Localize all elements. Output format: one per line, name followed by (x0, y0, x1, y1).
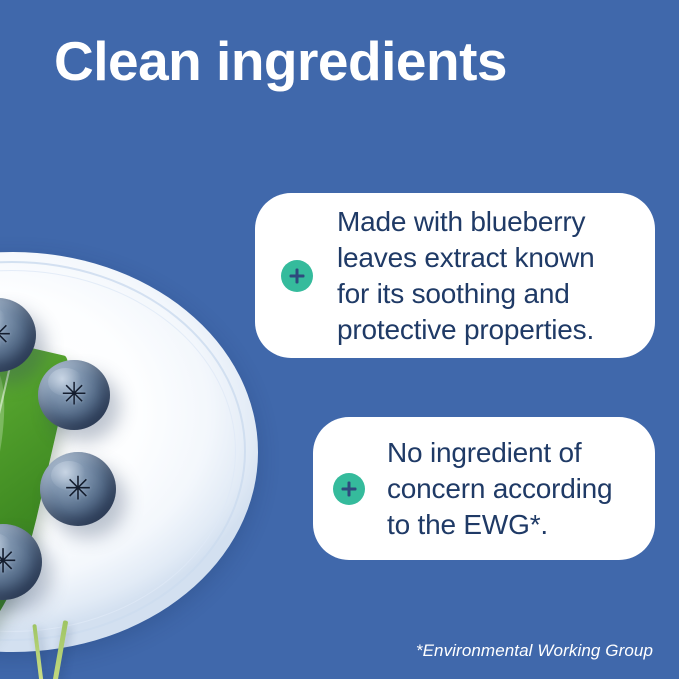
berry-2: ✳ (38, 360, 110, 430)
berry-crown: ✳ (64, 473, 91, 506)
berry-crown: ✳ (0, 319, 12, 352)
benefit-card-1-text: Made with blueberry leaves extract known… (337, 204, 633, 348)
page-title: Clean ingredients (54, 28, 507, 94)
blueberry-plate-photo: ✳ ✳ ✳ ✳ ✳ ✳ (0, 252, 260, 679)
plus-icon (333, 473, 365, 505)
berry-crown: ✳ (61, 380, 87, 411)
clean-ingredients-banner: ✳ ✳ ✳ ✳ ✳ ✳ Clean ingredients Made with … (0, 0, 679, 679)
plus-icon (281, 260, 313, 292)
footnote: *Environmental Working Group (416, 641, 653, 661)
berry-3: ✳ (40, 452, 116, 526)
berry-crown: ✳ (0, 545, 17, 578)
benefit-card-2-text: No ingredient of concern according to th… (387, 435, 639, 543)
benefit-card-1: Made with blueberry leaves extract known… (255, 193, 655, 358)
benefit-card-2: No ingredient of concern according to th… (313, 417, 655, 560)
